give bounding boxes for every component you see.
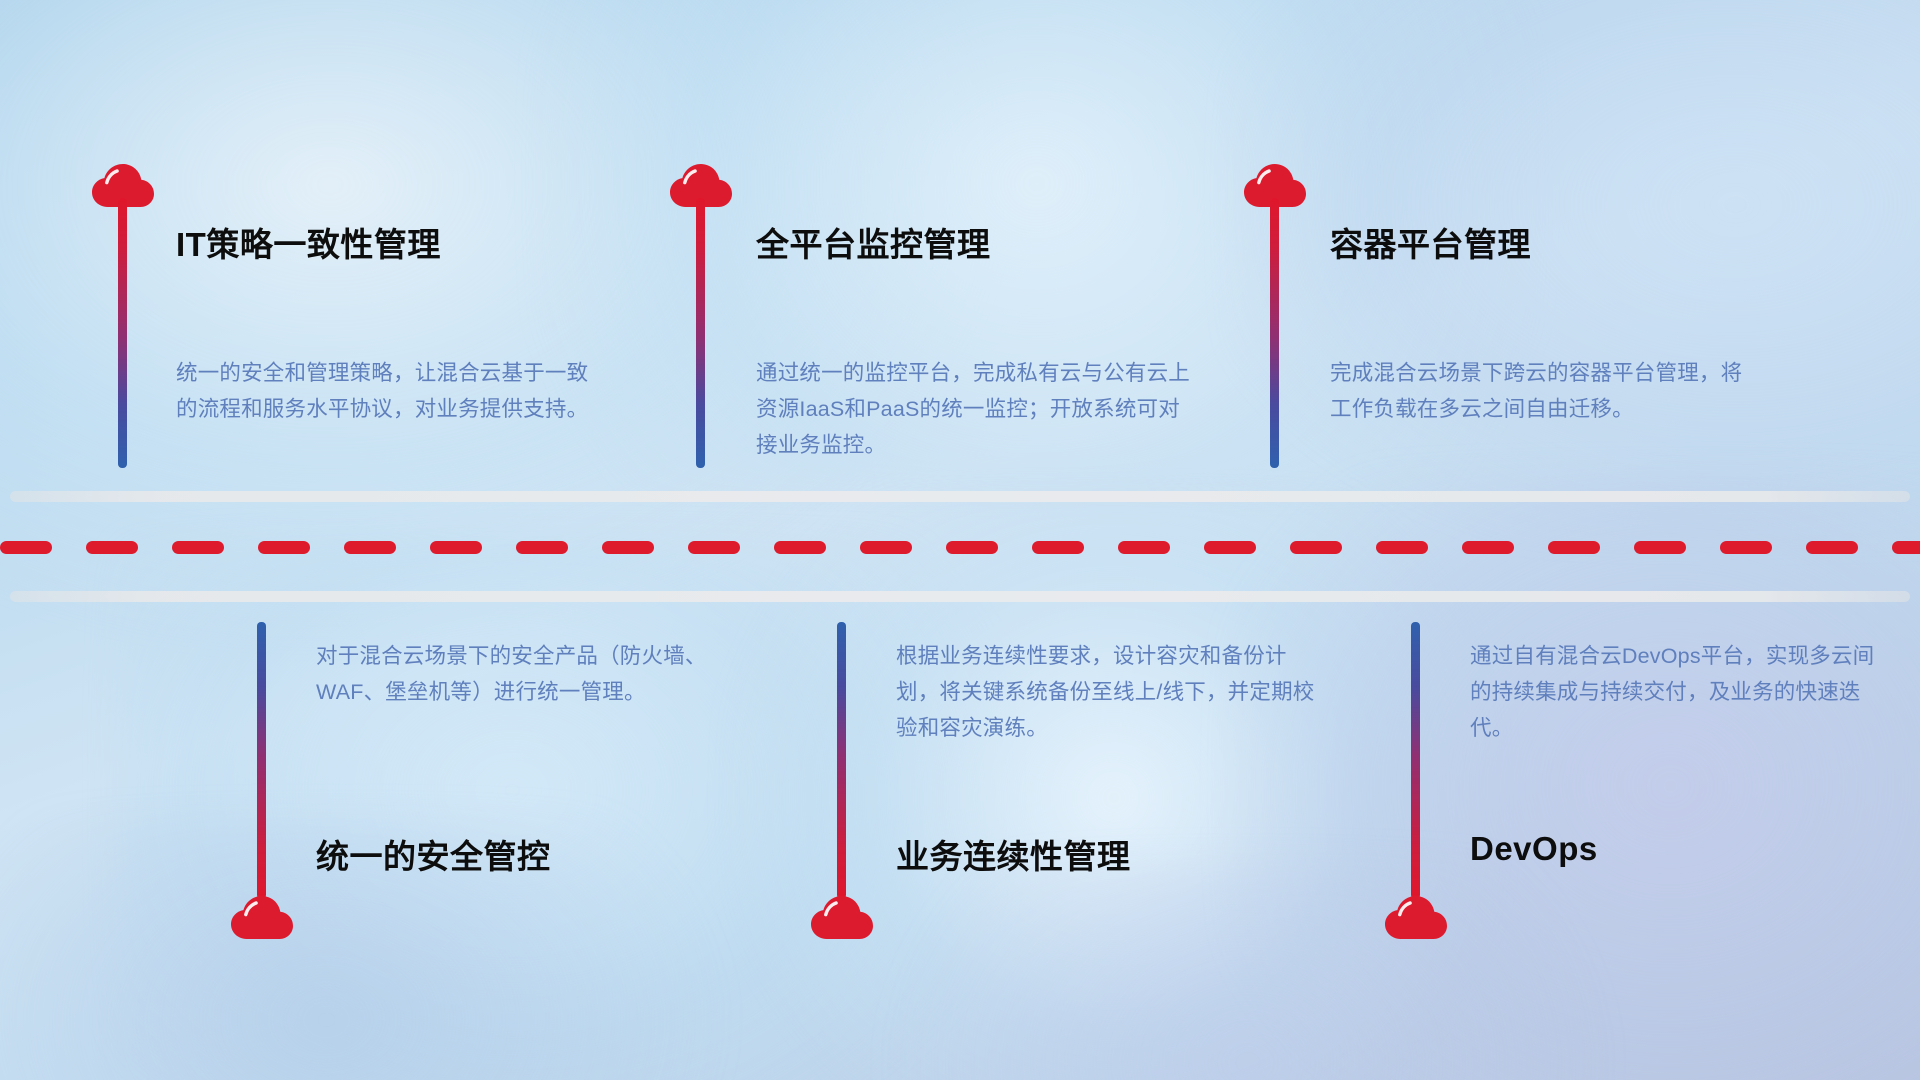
dash-segment (1720, 541, 1772, 554)
card-description: 对于混合云场景下的安全产品（防火墙、WAF、堡垒机等）进行统一管理。 (316, 638, 741, 710)
dash-segment (1462, 541, 1514, 554)
dash-segment (1290, 541, 1342, 554)
infographic-stage: IT策略一致性管理 统一的安全和管理策略，让混合云基于一致的流程和服务水平协议，… (0, 0, 1920, 1080)
divider-dashed-line (0, 541, 1920, 554)
dash-segment (430, 541, 482, 554)
dash-segment (86, 541, 138, 554)
dash-segment (602, 541, 654, 554)
dash-segment (946, 541, 998, 554)
cloud-icon (1384, 890, 1448, 940)
cloud-icon (230, 890, 294, 940)
dash-segment (172, 541, 224, 554)
dash-segment (0, 541, 52, 554)
dash-segment (258, 541, 310, 554)
dash-segment (774, 541, 826, 554)
card-title: IT策略一致性管理 (176, 218, 441, 266)
dash-segment (688, 541, 740, 554)
dash-segment (344, 541, 396, 554)
card-description: 通过自有混合云DevOps平台，实现多云间的持续集成与持续交付，及业务的快速迭代… (1470, 638, 1895, 746)
dash-segment (860, 541, 912, 554)
divider-lower-rail (10, 591, 1910, 602)
dash-segment (1892, 541, 1920, 554)
dash-segment (1118, 541, 1170, 554)
dash-segment (1548, 541, 1600, 554)
connector-line (837, 622, 846, 899)
card-description: 根据业务连续性要求，设计容灾和备份计划，将关键系统备份至线上/线下，并定期校验和… (896, 638, 1321, 746)
cloud-icon (810, 890, 874, 940)
connector-line (1270, 198, 1279, 468)
dash-segment (1032, 541, 1084, 554)
connector-line (1411, 622, 1420, 899)
card-title: 统一的安全管控 (316, 830, 551, 878)
card-description: 统一的安全和管理策略，让混合云基于一致的流程和服务水平协议，对业务提供支持。 (176, 355, 601, 427)
divider-upper-rail (10, 491, 1910, 502)
connector-line (696, 198, 705, 468)
dash-segment (516, 541, 568, 554)
dash-segment (1806, 541, 1858, 554)
card-title: DevOps (1470, 830, 1598, 868)
card-title: 容器平台管理 (1330, 218, 1531, 266)
connector-line (257, 622, 266, 899)
card-description: 通过统一的监控平台，完成私有云与公有云上资源IaaS和PaaS的统一监控；开放系… (756, 355, 1194, 463)
connector-line (118, 198, 127, 468)
card-title: 全平台监控管理 (756, 218, 991, 266)
card-title: 业务连续性管理 (896, 830, 1131, 878)
card-description: 完成混合云场景下跨云的容器平台管理，将工作负载在多云之间自由迁移。 (1330, 355, 1762, 427)
dash-segment (1204, 541, 1256, 554)
dash-segment (1634, 541, 1686, 554)
dash-segment (1376, 541, 1428, 554)
